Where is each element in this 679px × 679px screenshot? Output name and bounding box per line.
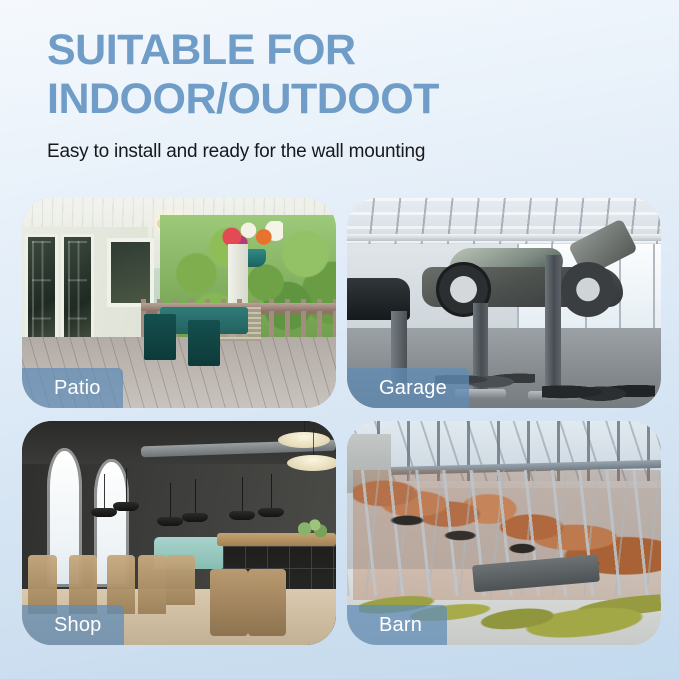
pendant-lamp-icon (157, 517, 183, 526)
pendant-lamp-icon (258, 508, 284, 517)
bar-stool (210, 569, 248, 636)
use-case-card-shop[interactable]: Shop (22, 421, 336, 645)
potted-plant (295, 517, 326, 537)
bar-stool (248, 569, 286, 636)
card-label-patio: Patio (22, 368, 123, 408)
use-case-grid: Patio (22, 198, 657, 645)
use-case-card-barn[interactable]: Barn (347, 421, 661, 645)
porch-window (107, 238, 154, 307)
card-label-garage: Garage (347, 368, 469, 408)
vehicle-on-lift (422, 248, 623, 307)
card-label-shop: Shop (22, 605, 124, 645)
cafe-chair (166, 555, 194, 604)
cafe-chair (138, 555, 166, 613)
page-title: SUITABLE FOR INDOOR/OUTDOOT (47, 26, 647, 124)
use-case-card-garage[interactable]: Garage (347, 198, 661, 408)
promo-poster: SUITABLE FOR INDOOR/OUTDOOT Easy to inst… (0, 0, 679, 679)
lift-post-right (545, 255, 561, 394)
pendant-lamp-icon (113, 502, 139, 511)
header-block: SUITABLE FOR INDOOR/OUTDOOT Easy to inst… (47, 26, 647, 164)
use-case-card-patio[interactable]: Patio (22, 198, 336, 408)
pendant-lamp-icon (229, 511, 255, 520)
card-label-text: Garage (379, 377, 447, 400)
patio-chair (188, 320, 219, 366)
card-label-text: Patio (54, 377, 101, 400)
patio-chair (144, 314, 175, 360)
vehicle-wheel (561, 262, 615, 316)
dome-pendant-icon (278, 432, 330, 448)
pendant-lamp-icon (91, 508, 117, 517)
pendant-lamp-icon (182, 513, 208, 522)
stacked-tires (542, 377, 655, 404)
card-label-text: Shop (54, 614, 102, 637)
card-label-barn: Barn (347, 605, 447, 645)
dome-pendant-icon (287, 455, 336, 471)
page-subtitle: Easy to install and ready for the wall m… (47, 140, 647, 164)
card-label-text: Barn (379, 614, 422, 637)
